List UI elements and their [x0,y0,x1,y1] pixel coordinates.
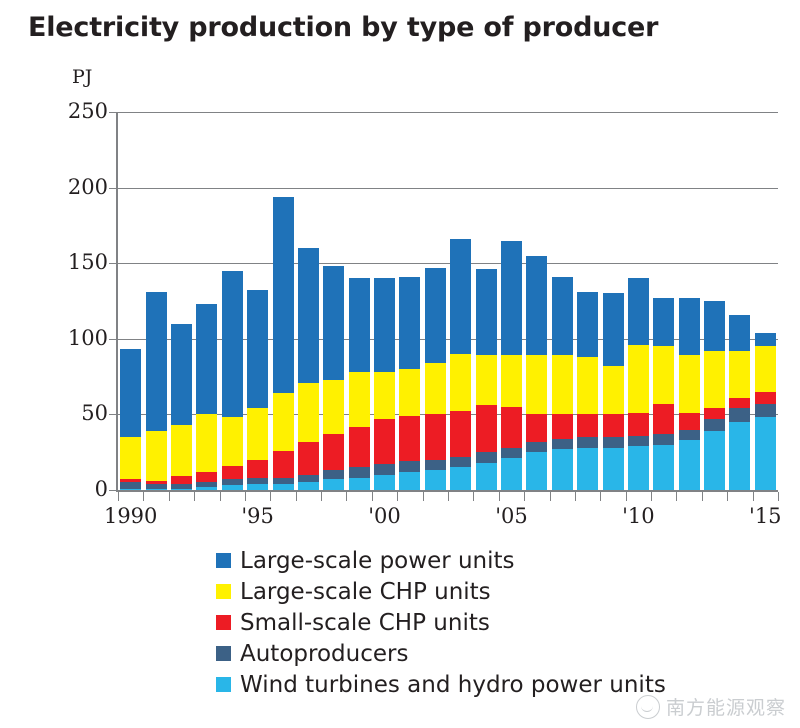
x-axis-tick [626,492,627,501]
y-axis-line [116,112,118,491]
plot-area: 1990'95'00'05'10'15 [118,112,778,490]
legend-item-label: Large-scale power units [240,548,515,574]
bar-segment [704,431,725,490]
y-axis-tick-label: 250 [68,101,108,122]
bar-segment [603,293,624,366]
x-axis-tick [524,492,525,501]
x-axis-tick [550,492,551,501]
bar-segment [450,411,471,456]
legend-swatch-icon [216,584,231,599]
bar-segment [729,408,750,422]
x-axis-tick [473,492,474,501]
bar-segment [374,475,395,490]
chart-title: Electricity production by type of produc… [28,12,658,43]
bar-segment [120,482,141,488]
bar-segment [526,355,547,414]
bar-segment [399,416,420,461]
y-axis-tick-labels: 050100150200250 [48,112,108,490]
bar-2003 [450,112,471,490]
bar-segment [247,460,268,478]
bar-segment [146,431,167,481]
bar-2009 [603,112,624,490]
legend-swatch-icon [216,615,231,630]
bar-1992 [171,112,192,490]
y-axis-tick [109,263,118,264]
bar-segment [501,407,522,448]
y-axis-tick-label: 150 [68,252,108,273]
x-axis-tick [372,492,373,501]
bar-segment [552,277,573,356]
bar-1994 [222,112,243,490]
chart-container: Electricity production by type of produc… [0,0,800,728]
bar-segment [273,478,294,484]
bar-segment [196,414,217,471]
legend-item: Autoproducers [216,638,666,669]
bar-segment [120,437,141,479]
legend-swatch-icon [216,553,231,568]
bar-segment [755,346,776,391]
legend-item: Wind turbines and hydro power units [216,669,666,700]
legend-item-label: Wind turbines and hydro power units [240,672,666,698]
legend-swatch-icon [216,646,231,661]
bar-segment [603,414,624,437]
bar-2007 [552,112,573,490]
x-axis-tick [397,492,398,501]
x-axis-tick [600,492,601,501]
x-axis-tick-label: '10 [622,504,655,528]
bar-segment [755,417,776,490]
bar-segment [273,197,294,394]
bar-segment [679,355,700,412]
y-axis-tick-label: 200 [68,177,108,198]
bar-segment [146,481,167,484]
bar-1991 [146,112,167,490]
x-axis-tick [321,492,322,501]
bar-segment [399,472,420,490]
bar-1997 [298,112,319,490]
bar-segment [704,351,725,408]
bar-segment [222,271,243,418]
bar-segment [729,398,750,409]
x-axis-line [116,490,778,492]
bar-segment [450,457,471,468]
bar-segment [349,278,370,372]
bar-segment [273,451,294,478]
x-axis-tick [118,492,119,501]
bar-1998 [323,112,344,490]
bar-segment [653,404,674,434]
bar-segment [450,354,471,411]
x-axis-tick [245,492,246,501]
bar-1995 [247,112,268,490]
bar-segment [755,333,776,347]
y-axis-tick [109,188,118,189]
bar-segment [628,413,649,436]
x-axis-tick [753,492,754,501]
bar-segment [298,383,319,442]
bar-segment [679,440,700,490]
x-axis-tick [499,492,500,501]
bar-2006 [526,112,547,490]
bar-segment [603,448,624,490]
bar-segment [653,298,674,346]
bar-segment [704,419,725,431]
bar-segment [222,479,243,485]
x-axis-tick-label: '95 [241,504,274,528]
bar-segment [628,345,649,413]
bar-segment [501,355,522,406]
bar-segment [196,304,217,414]
bar-segment [349,478,370,490]
bar-segment [120,489,141,491]
chart-legend: Large-scale power unitsLarge-scale CHP u… [216,545,666,700]
y-axis-tick [109,490,118,491]
bar-segment [628,436,649,447]
bar-segment [171,476,192,484]
bar-segment [171,489,192,491]
bar-segment [729,422,750,490]
bar-2012 [679,112,700,490]
x-axis-tick [143,492,144,501]
bar-segment [374,419,395,464]
x-axis-tick [296,492,297,501]
bar-segment [501,458,522,490]
bar-segment [298,442,319,475]
bar-segment [425,460,446,471]
legend-item-label: Autoproducers [240,641,408,667]
bar-segment [247,290,268,408]
bar-2015 [755,112,776,490]
bar-segment [374,464,395,475]
y-axis-tick-label: 0 [95,479,108,500]
bar-segment [679,413,700,430]
bar-segment [374,278,395,372]
y-axis-tick [109,339,118,340]
bar-segment [273,393,294,450]
bar-segment [323,266,344,379]
x-axis-tick [270,492,271,501]
x-axis-tick-label: 1990 [104,504,157,528]
legend-item: Large-scale CHP units [216,576,666,607]
bar-segment [577,357,598,414]
bar-segment [222,466,243,480]
bar-segment [476,452,497,463]
bar-2014 [729,112,750,490]
bar-segment [501,448,522,459]
bar-segment [323,434,344,470]
bar-segment [247,484,268,490]
bar-segment [476,355,497,405]
bar-2011 [653,112,674,490]
bar-segment [552,439,573,450]
bar-segment [196,472,217,483]
bar-segment [526,452,547,490]
legend-item: Small-scale CHP units [216,607,666,638]
x-axis-tick [220,492,221,501]
bar-2002 [425,112,446,490]
bar-segment [526,442,547,453]
bar-segment [222,485,243,490]
bar-1999 [349,112,370,490]
bar-segment [399,277,420,369]
bar-segment [425,363,446,414]
bar-segment [349,427,370,468]
x-axis-tick-label: '05 [495,504,528,528]
bar-segment [120,479,141,482]
bar-1990 [120,112,141,490]
bar-segment [729,315,750,351]
bar-segment [247,408,268,459]
bar-segment [146,484,167,489]
x-axis-tick-label: '15 [749,504,782,528]
legend-item-label: Small-scale CHP units [240,610,490,636]
x-axis-tick [676,492,677,501]
bar-segment [146,489,167,491]
x-axis-tick [169,492,170,501]
bar-segment [222,417,243,465]
bar-2008 [577,112,598,490]
bar-2001 [399,112,420,490]
x-axis-tick [651,492,652,501]
bar-segment [146,292,167,431]
bar-segment [349,372,370,426]
bar-segment [399,461,420,472]
bar-2013 [704,112,725,490]
x-axis-tick [702,492,703,501]
bar-segment [450,467,471,490]
x-axis-tick [346,492,347,501]
bar-segment [679,298,700,355]
bar-segment [273,484,294,490]
x-axis-tick [575,492,576,501]
y-axis-tick [109,112,118,113]
bar-2004 [476,112,497,490]
x-axis-tick [423,492,424,501]
bar-segment [628,446,649,490]
bar-segment [349,467,370,478]
y-axis-tick [109,414,118,415]
x-axis-tick-label: '00 [368,504,401,528]
watermark-text: 南方能源观察 [666,693,786,720]
bar-segment [552,355,573,414]
y-axis-tick-label: 100 [68,328,108,349]
x-axis-tick [778,492,779,501]
bar-2000 [374,112,395,490]
bar-segment [298,475,319,483]
legend-item: Large-scale power units [216,545,666,576]
bar-segment [679,430,700,441]
bar-2010 [628,112,649,490]
bar-segment [298,248,319,383]
bar-segment [450,239,471,354]
bar-segment [653,346,674,403]
bar-segment [196,487,217,490]
bar-segment [577,437,598,448]
legend-swatch-icon [216,677,231,692]
bar-segment [653,445,674,490]
bar-segment [526,256,547,356]
bar-segment [171,425,192,476]
bar-segment [425,470,446,490]
bar-segment [729,351,750,398]
bar-segment [577,414,598,437]
bar-segment [501,241,522,356]
bar-segment [247,478,268,484]
bar-2005 [501,112,522,490]
bar-segment [704,301,725,351]
bar-segment [704,408,725,419]
bar-segment [196,482,217,487]
bar-segment [476,269,497,355]
bar-segment [323,380,344,434]
bar-segment [374,372,395,419]
x-axis-tick [727,492,728,501]
x-axis-tick [448,492,449,501]
bar-1996 [273,112,294,490]
bar-1993 [196,112,217,490]
bar-segment [298,482,319,490]
bar-segment [755,404,776,418]
bar-segment [552,449,573,490]
bar-segment [323,479,344,490]
bar-segment [476,405,497,452]
bar-segment [399,369,420,416]
bar-segment [476,463,497,490]
bar-segment [755,392,776,404]
y-axis-tick-label: 50 [81,403,108,424]
legend-item-label: Large-scale CHP units [240,579,491,605]
bar-segment [323,470,344,479]
bar-segment [603,366,624,414]
bar-segment [603,437,624,448]
y-axis-unit-label: PJ [72,66,92,88]
x-axis-tick [194,492,195,501]
bar-segment [120,349,141,437]
bar-segment [628,278,649,345]
bar-segment [171,324,192,425]
bar-segment [577,292,598,357]
bar-segment [552,414,573,438]
bar-segment [425,414,446,459]
bar-segment [171,484,192,489]
bar-segment [425,268,446,363]
bar-segment [577,448,598,490]
bar-segment [526,414,547,441]
bar-segment [653,434,674,445]
